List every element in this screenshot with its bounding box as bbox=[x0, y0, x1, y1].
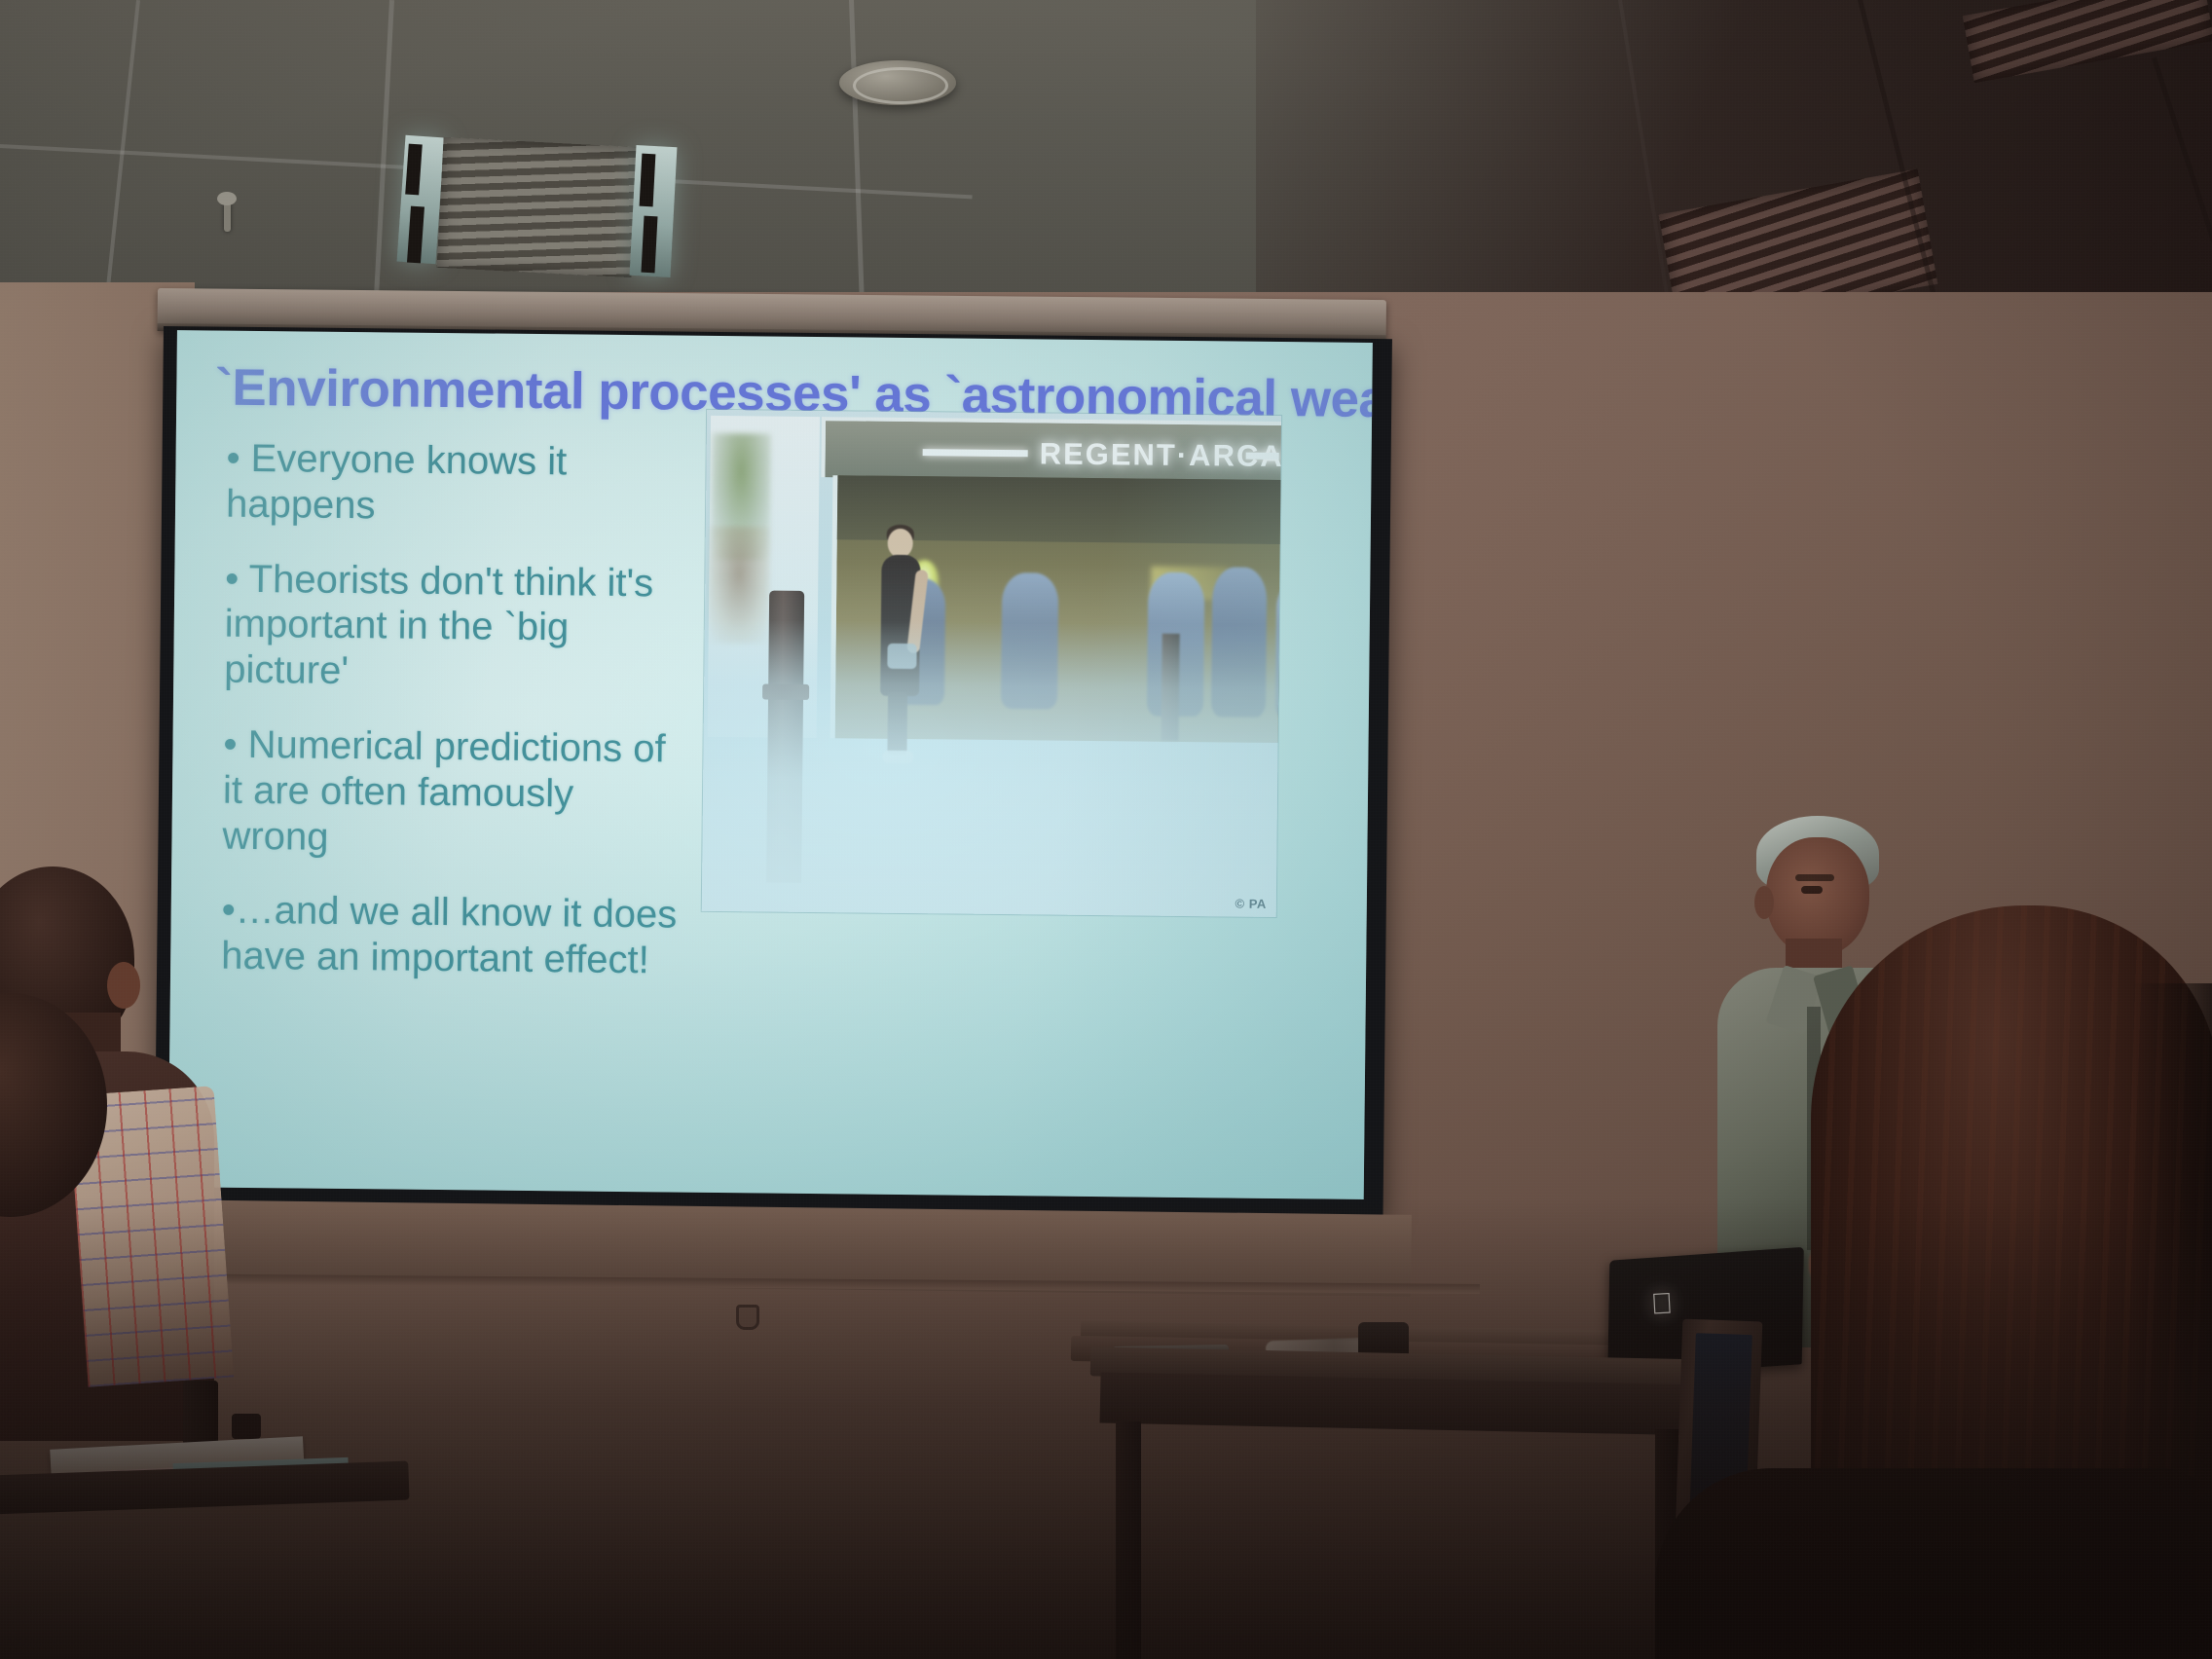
room-floor-shadow bbox=[0, 1198, 2212, 1659]
ceiling bbox=[0, 0, 2212, 321]
ceiling-tile-seam bbox=[103, 0, 140, 320]
projection-surface: `Environmental processes' as `astronomic… bbox=[168, 330, 1373, 1199]
audience-ear bbox=[107, 962, 140, 1009]
ceiling-tile-seam bbox=[373, 0, 394, 321]
ceiling-air-vent bbox=[437, 137, 639, 277]
slide-bullet: • Everyone knows it happens bbox=[226, 436, 694, 533]
photo-woman-shoes bbox=[882, 751, 913, 763]
photo-bystander bbox=[1211, 567, 1268, 718]
photo-credit: © PA bbox=[1235, 897, 1266, 911]
ceiling-light-slot bbox=[640, 154, 656, 207]
slide-bullet: • Theorists don't think it's important i… bbox=[224, 556, 692, 697]
slide-bullet-list: • Everyone knows it happens • Theorists … bbox=[221, 436, 694, 1014]
photo-bystander bbox=[1275, 577, 1281, 720]
smoke-detector-icon bbox=[839, 60, 956, 105]
lecture-room-scene: `Environmental processes' as `astronomic… bbox=[0, 0, 2212, 1659]
projector-screen: `Environmental processes' as `astronomic… bbox=[155, 326, 1392, 1215]
ceiling-hook bbox=[224, 199, 231, 232]
photo-sign-dash bbox=[1246, 453, 1279, 460]
photo-woman-legs bbox=[887, 692, 907, 755]
photo-woman-head bbox=[888, 529, 913, 558]
slide-bullet: •…and we all know it does have an import… bbox=[221, 888, 689, 984]
photo-hanging-plant bbox=[709, 527, 770, 645]
photo-bystander bbox=[1001, 572, 1058, 710]
photo-sign-dash bbox=[923, 449, 1028, 457]
photo-bollard bbox=[766, 591, 804, 883]
slide-photo-rain-arcade: REGENT·ARCADE bbox=[702, 410, 1281, 917]
photo-bollard bbox=[1161, 634, 1180, 741]
presenter-ear bbox=[1754, 886, 1774, 919]
presenter-eye bbox=[1801, 886, 1823, 894]
photo-woman-in-rain bbox=[876, 529, 922, 767]
photo-arcade-facade: REGENT·ARCADE bbox=[821, 417, 1281, 482]
photo-woman-bag bbox=[887, 644, 916, 669]
slide-bullet: • Numerical predictions of it are often … bbox=[222, 722, 690, 864]
presenter-brow bbox=[1795, 874, 1834, 881]
presentation-slide: `Environmental processes' as `astronomic… bbox=[168, 330, 1373, 1199]
ceiling-tile-seam bbox=[849, 0, 866, 321]
